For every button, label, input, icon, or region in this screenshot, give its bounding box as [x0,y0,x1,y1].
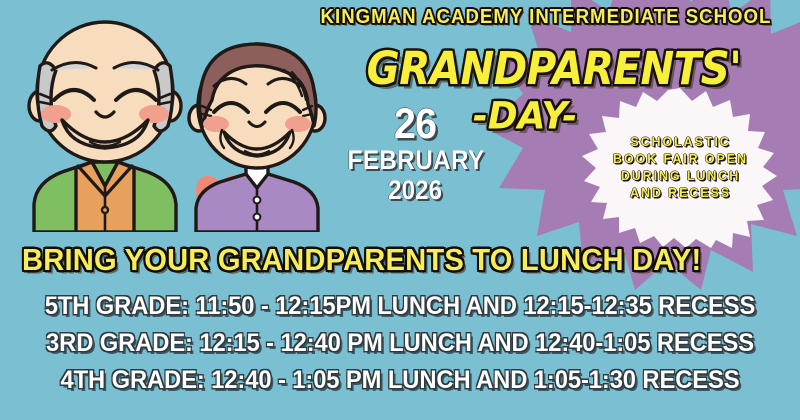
grandparents-illustration [0,14,350,232]
school-name-title: KINGMAN ACADEMY INTERMEDIATE SCHOOL [317,6,775,29]
event-title: GRANDPARENTS' [367,42,684,95]
badge-line-3: DURING LUNCH [621,170,740,183]
badge-line-4: AND RECESS [630,187,731,200]
badge-line-1: SCHOLASTIC [630,136,730,149]
schedule-row-grade-3: 3RD GRADE: 12:15 - 12:40 PM LUNCH AND 12… [20,325,780,362]
schedule-list: 5TH GRADE: 11:50 - 12:15PM LUNCH AND 12:… [0,288,800,399]
date-month: FEBRUARY [348,145,483,175]
schedule-row-grade-5: 5TH GRADE: 11:50 - 12:15PM LUNCH AND 12:… [20,288,780,325]
date-year: 2026 [348,176,483,206]
grandparents-day-flyer: SCHOLASTIC BOOK FAIR OPEN DURING LUNCH A… [0,0,800,420]
headline-text: BRING YOUR GRANDPARENTS TO LUNCH DAY! [22,242,701,278]
badge-line-2: BOOK FAIR OPEN [613,153,748,166]
event-title-sub: -DAY- [420,95,630,138]
schedule-row-grade-4: 4TH GRADE: 12:40 - 1:05 PM LUNCH AND 1:0… [20,362,780,399]
